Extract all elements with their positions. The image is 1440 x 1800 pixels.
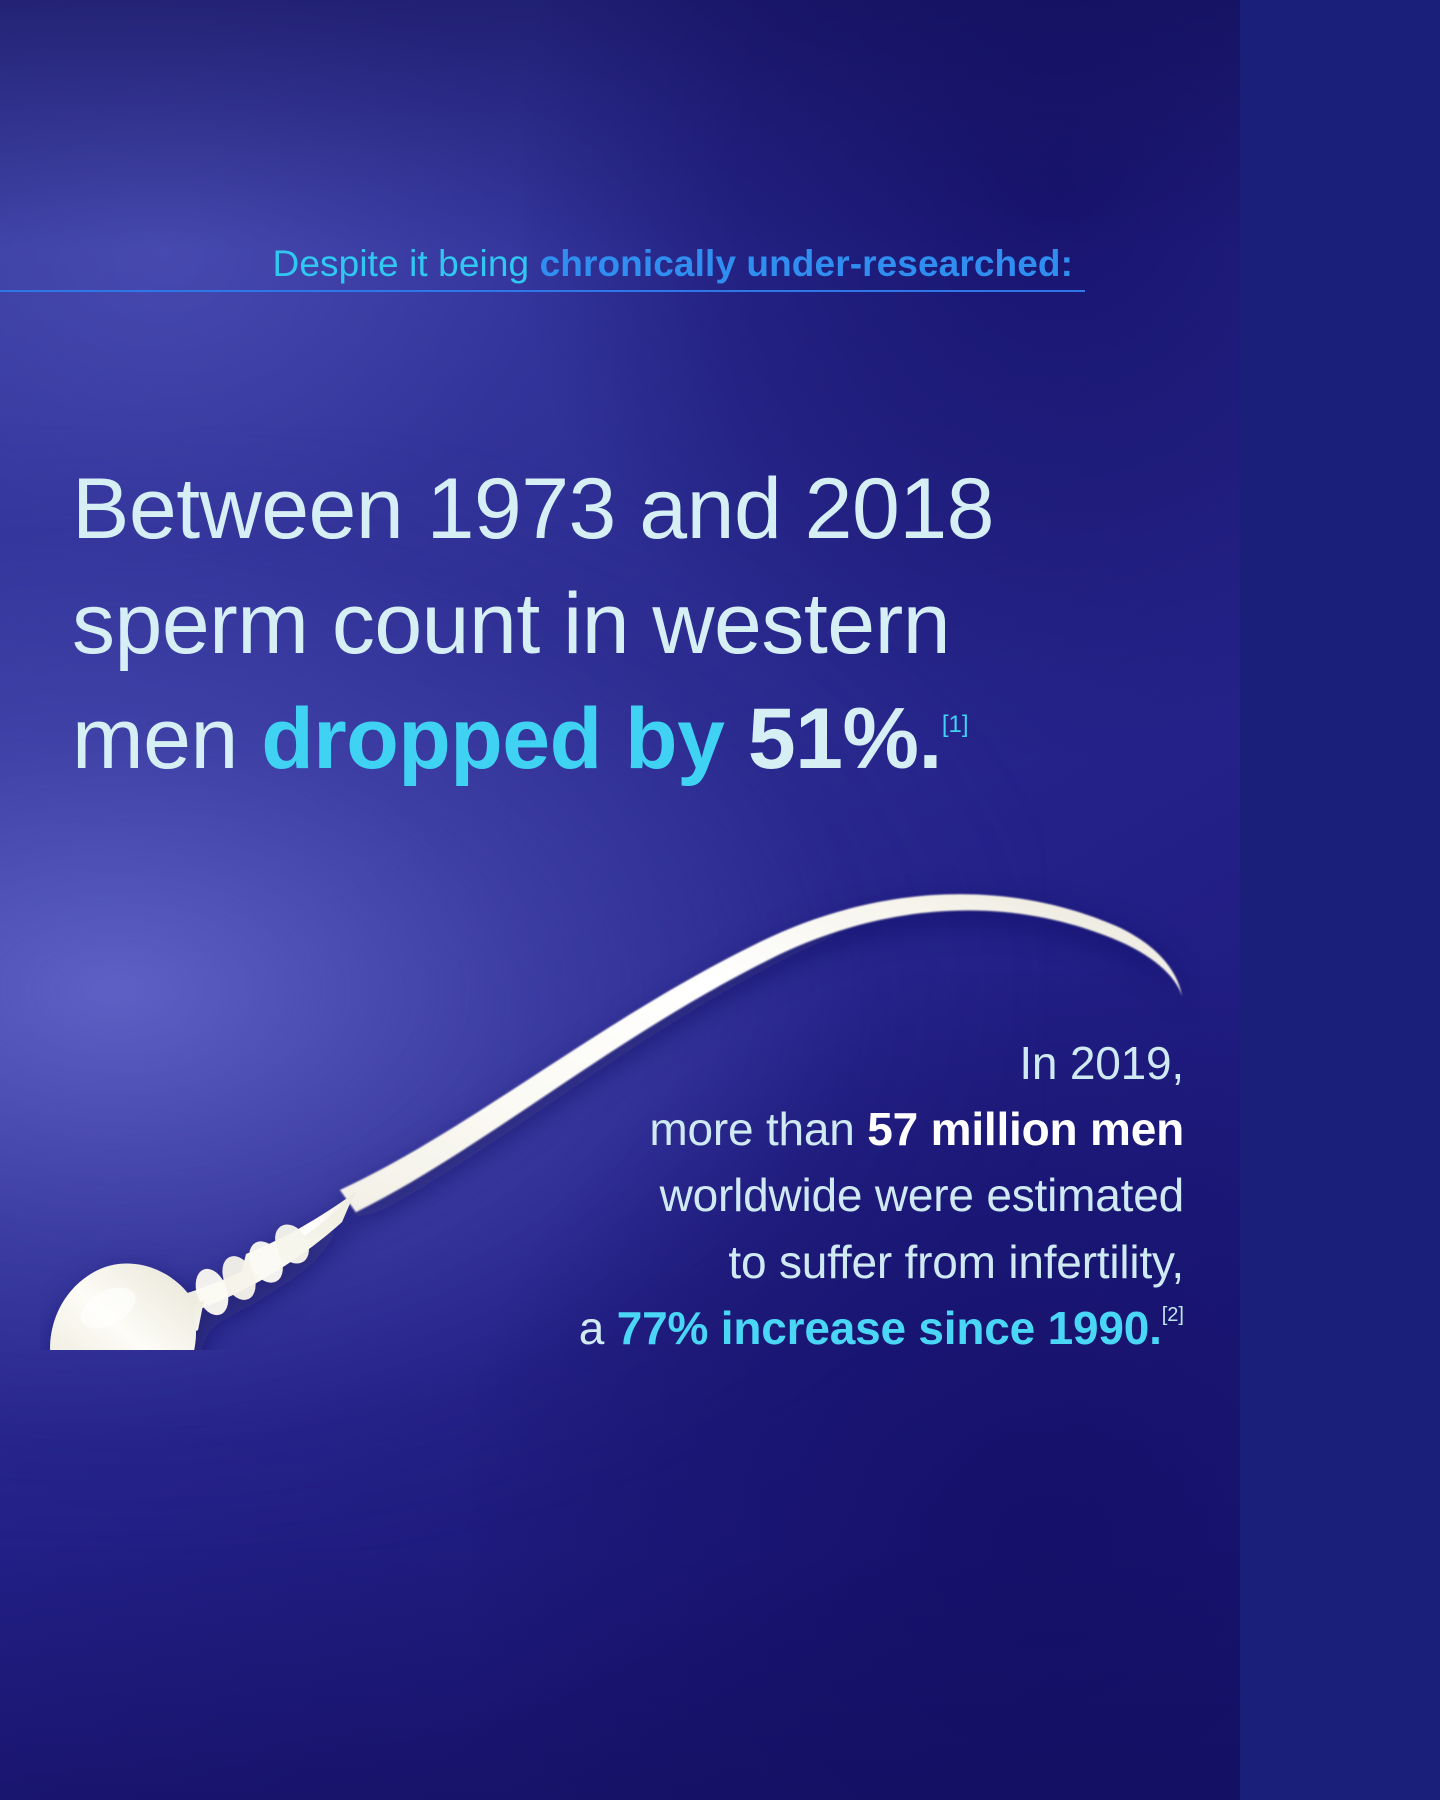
kicker-emphasis-text: chronically under-researched: xyxy=(540,243,1073,284)
headline-block: Between 1973 and 2018 sperm count in wes… xyxy=(72,452,1132,798)
headline-statistic: 51%. xyxy=(748,691,942,787)
headline-line-1: Between 1973 and 2018 xyxy=(72,452,1132,567)
headline-line3-lead: men xyxy=(72,691,261,787)
body-statistic-increase: 77% increase since 1990. xyxy=(617,1302,1162,1354)
body-footnote-marker[interactable]: [2] xyxy=(1162,1304,1184,1326)
poster-canvas: Despite it being chronically under-resea… xyxy=(0,0,1240,1800)
body-line-2: more than 57 million men xyxy=(424,1096,1184,1162)
body-paragraph: In 2019, more than 57 million men worldw… xyxy=(424,1030,1184,1361)
headline-accent-phrase: dropped by xyxy=(261,691,748,787)
body-line-3: worldwide were estimated xyxy=(424,1162,1184,1228)
headline-line-3: men dropped by 51%.[1] xyxy=(72,682,1132,797)
body-line-4: to suffer from infertility, xyxy=(424,1229,1184,1295)
kicker-lead-text: Despite it being xyxy=(273,243,540,284)
kicker-line: Despite it being chronically under-resea… xyxy=(0,243,1085,284)
body-line-5: a 77% increase since 1990.[2] xyxy=(424,1295,1184,1361)
headline-line-2: sperm count in western xyxy=(72,567,1132,682)
kicker-rule-container: Despite it being chronically under-resea… xyxy=(0,243,1085,292)
headline-footnote-marker[interactable]: [1] xyxy=(942,711,969,738)
body-line5-lead: a xyxy=(579,1302,617,1354)
body-statistic-men: 57 million men xyxy=(867,1103,1184,1155)
body-line2-lead: more than xyxy=(649,1103,867,1155)
body-line-1: In 2019, xyxy=(424,1030,1184,1096)
